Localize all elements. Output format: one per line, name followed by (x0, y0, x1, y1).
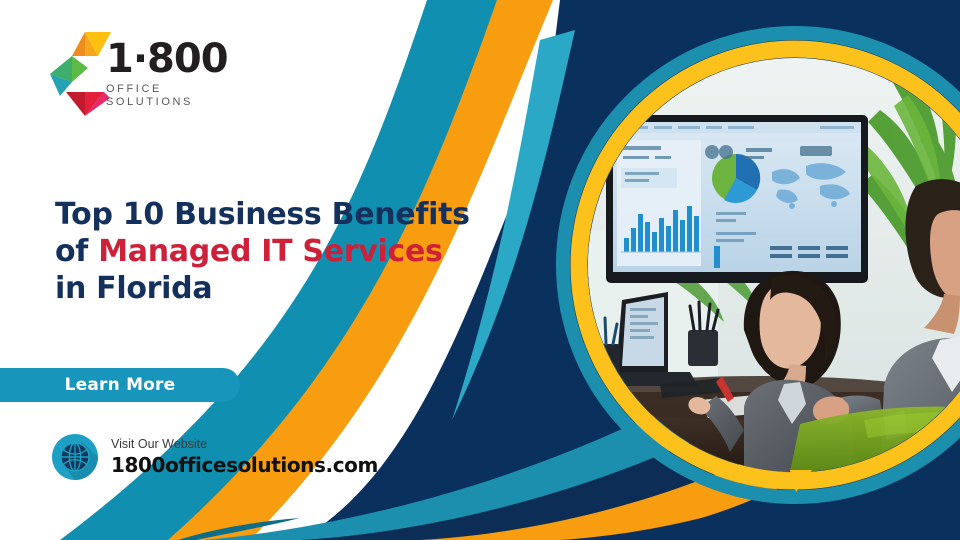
headline-accent: Managed IT Services (98, 234, 442, 269)
marketing-banner: 1·800 OFFICE SOLUTIONS Top 10 Business B… (0, 0, 960, 540)
brand-logo[interactable]: 1·800 OFFICE SOLUTIONS (44, 30, 224, 118)
website-url[interactable]: 1800officesolutions.com (111, 453, 378, 477)
logo-wordmark: 1·800 OFFICE SOLUTIONS (106, 36, 226, 108)
logo-subtitle-line2: SOLUTIONS (106, 96, 226, 109)
headline-line-1: Top 10 Business Benefits (55, 197, 470, 232)
logo-subtitle: OFFICE SOLUTIONS (106, 83, 226, 108)
website-block[interactable]: Visit Our Website 1800officesolutions.co… (52, 434, 378, 480)
logo-number: 1·800 (106, 36, 226, 82)
page-title: Top 10 Business Benefits of Managed IT S… (55, 196, 475, 307)
globe-icon (52, 434, 98, 480)
website-text: Visit Our Website 1800officesolutions.co… (111, 437, 378, 477)
logo-subtitle-line1: OFFICE (106, 83, 226, 96)
headline-line-2-prefix: of (55, 234, 98, 269)
website-label: Visit Our Website (111, 437, 378, 452)
learn-more-button[interactable]: Learn More (0, 368, 240, 402)
headline-line-3: in Florida (55, 271, 212, 306)
